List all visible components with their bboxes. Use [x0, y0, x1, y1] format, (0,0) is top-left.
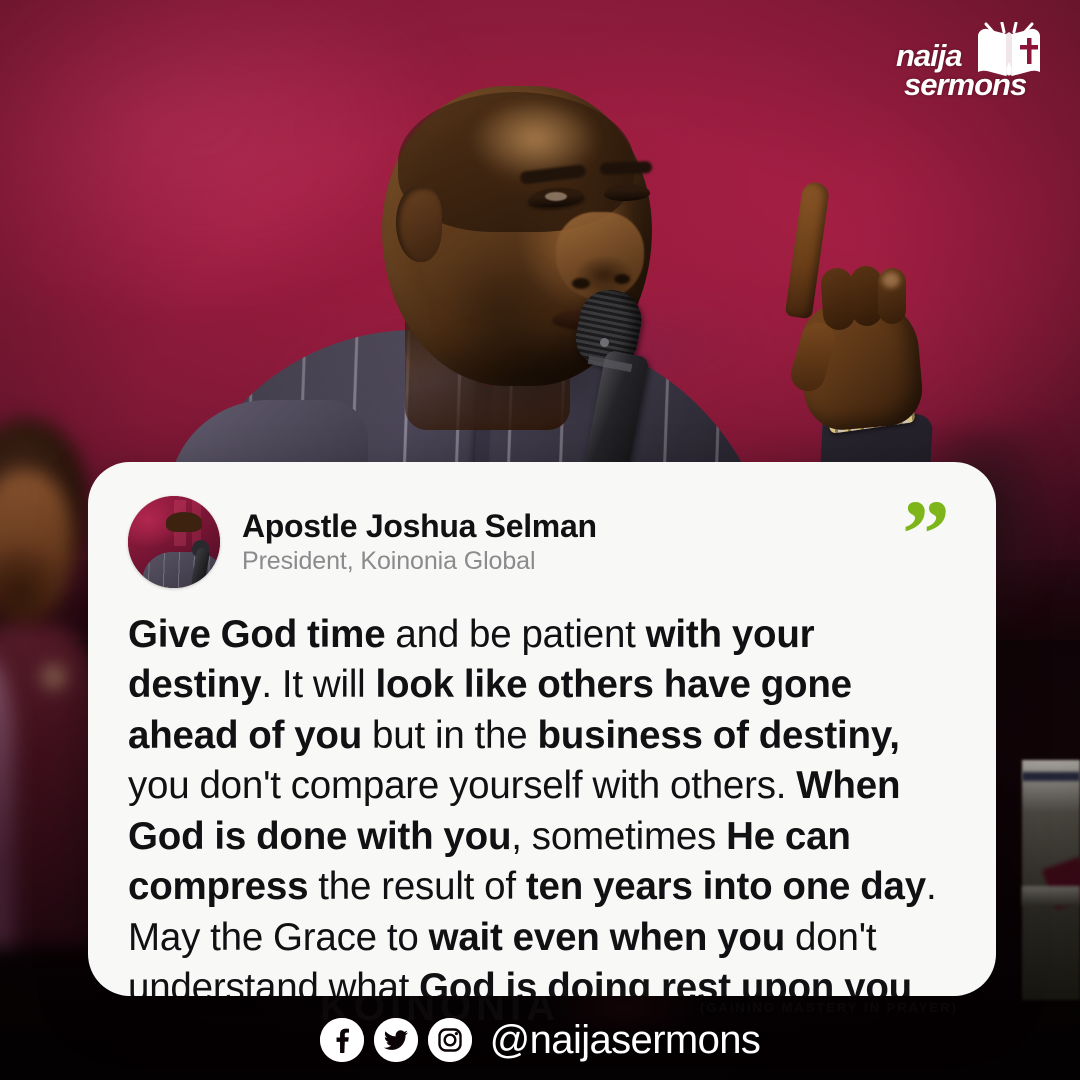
- twitter-icon[interactable]: [374, 1018, 418, 1062]
- brand-wordmark: naija sermons: [896, 42, 1024, 99]
- speaker-identity: Apostle Joshua Selman President, Koinoni…: [242, 508, 597, 577]
- facebook-icon[interactable]: [320, 1018, 364, 1062]
- card-header: Apostle Joshua Selman President, Koinoni…: [128, 496, 597, 588]
- speaker-name: Apostle Joshua Selman: [242, 508, 597, 545]
- speaker-role: President, Koinonia Global: [242, 547, 597, 576]
- poster-canvas: KOINONIA (GAINING MASTERY IN PRAYER): [0, 0, 1080, 1080]
- quotation-mark-icon: ”: [902, 486, 950, 582]
- social-footer: @naijasermons: [0, 1018, 1080, 1062]
- quote-card: Apostle Joshua Selman President, Koinoni…: [88, 462, 996, 996]
- quote-text: Give God time and be patient with your d…: [128, 610, 956, 996]
- brand-logo[interactable]: naija sermons: [896, 24, 1046, 106]
- social-handle[interactable]: @naijasermons: [490, 1020, 761, 1060]
- avatar-scalp: [166, 512, 202, 532]
- brand-wordmark-line2: sermons: [904, 71, 1024, 100]
- instagram-icon[interactable]: [428, 1018, 472, 1062]
- avatar[interactable]: [128, 496, 220, 588]
